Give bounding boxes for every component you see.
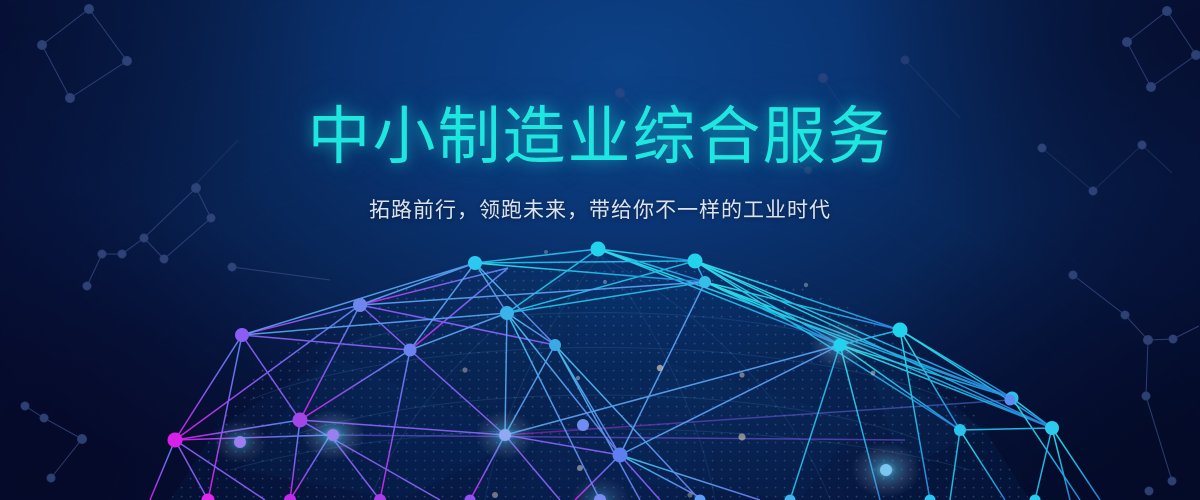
hero-banner: 中小制造业综合服务 拓路前行，领跑未来，带给你不一样的工业时代 <box>0 0 1200 500</box>
node-glows <box>213 320 921 500</box>
dome-network-layer <box>0 0 1200 500</box>
